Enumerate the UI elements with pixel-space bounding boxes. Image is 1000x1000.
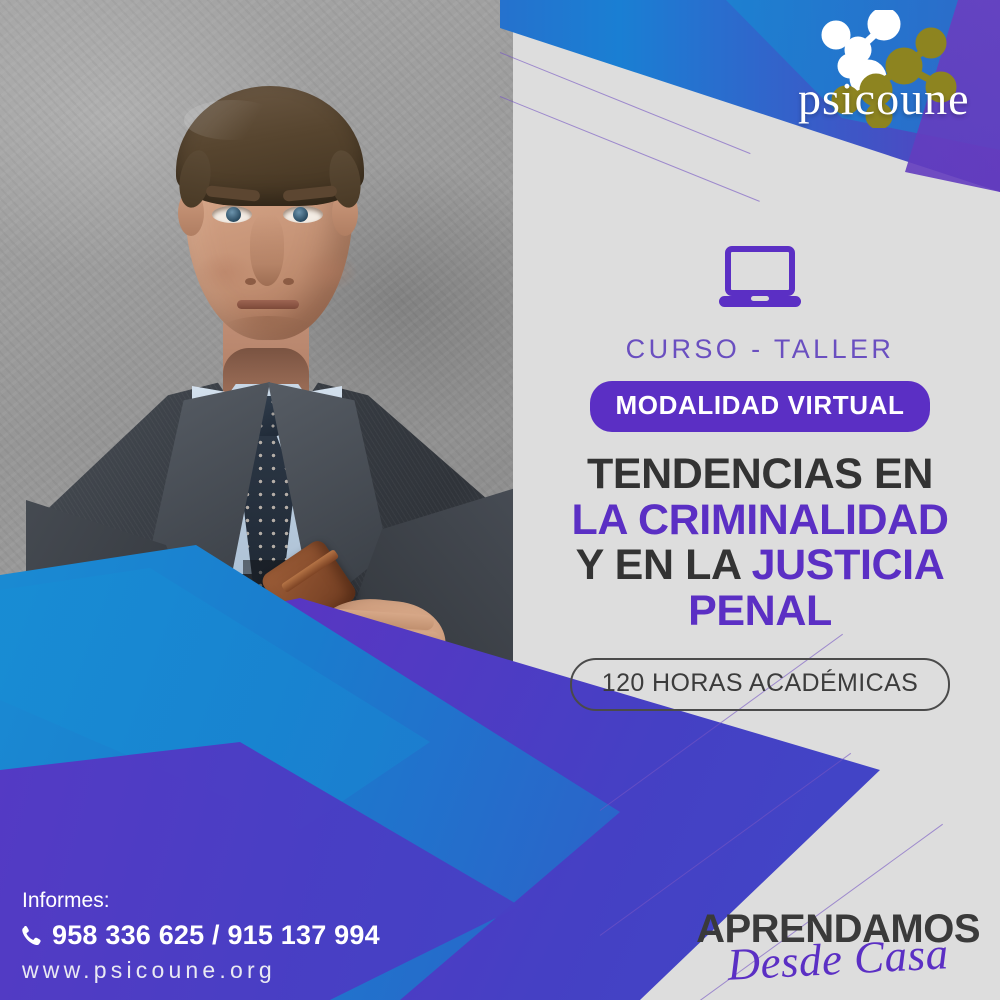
nostril-left (245, 278, 256, 285)
psicoune-logo[interactable]: psicoune (792, 10, 982, 128)
website-url[interactable]: www.psicoune.org (22, 957, 380, 984)
phone-numbers: 958 336 625 / 915 137 994 (52, 920, 380, 951)
title-line-1: TENDENCIAS EN (530, 452, 990, 498)
contact-block: Informes: 958 336 625 / 915 137 994 www.… (18, 889, 380, 984)
title-line-3-purple: JUSTICIA (752, 541, 945, 589)
phone-row[interactable]: 958 336 625 / 915 137 994 (18, 920, 380, 951)
title-line-3: Y EN LA JUSTICIA (530, 543, 990, 589)
contact-label: Informes: (22, 889, 380, 913)
nostril-right (283, 278, 294, 285)
title-line-3-dark: Y EN LA (576, 541, 752, 589)
promotional-poster: psicoune CURSO - TALLER MODALIDAD VIRTUA… (0, 0, 1000, 1000)
course-info-block: CURSO - TALLER MODALIDAD VIRTUAL TENDENC… (530, 246, 990, 711)
iris-right (293, 207, 308, 222)
slogan-block: APRENDAMOS Desde Casa (696, 909, 980, 982)
nose (250, 214, 284, 286)
laptop-icon (717, 246, 803, 312)
course-title: TENDENCIAS EN LA CRIMINALIDAD Y EN LA JU… (530, 452, 990, 634)
modality-badge: MODALIDAD VIRTUAL (590, 381, 931, 432)
logo-wordmark: psicoune (798, 72, 970, 125)
course-eyebrow: CURSO - TALLER (530, 334, 990, 365)
decor-line-top (500, 96, 760, 202)
mouth (237, 300, 299, 309)
chin-shadow (222, 316, 314, 342)
title-line-4: PENAL (530, 589, 990, 635)
phone-icon (18, 924, 42, 948)
hours-pill: 120 HORAS ACADÉMICAS (570, 658, 950, 711)
title-line-2: LA CRIMINALIDAD (530, 498, 990, 544)
cheek-left (196, 252, 254, 292)
slogan-line-2: Desde Casa (695, 930, 981, 990)
cheek-right (300, 252, 358, 292)
iris-left (226, 207, 241, 222)
